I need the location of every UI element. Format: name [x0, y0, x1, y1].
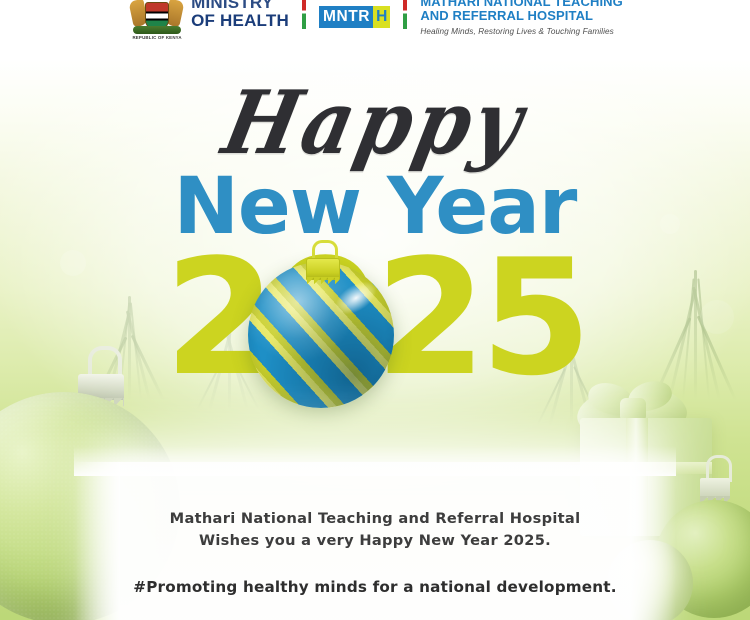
hospital-tagline: Healing Minds, Restoring Lives & Touchin… [420, 27, 623, 36]
kenya-coat-of-arms-icon: REPUBLIC OF KENYA [127, 0, 187, 42]
greeting-message-line-2: Wishes you a very Happy New Year 2025. [0, 530, 750, 552]
header-logo-bar: REPUBLIC OF KENYA MINISTRY OF HEALTH MNT… [0, 0, 750, 42]
kenya-flag-divider [403, 0, 407, 29]
mntrh-logo: MNTRH [319, 6, 390, 28]
ministry-line-1: MINISTRY [191, 0, 289, 12]
hospital-line-2: AND REFERRAL HOSPITAL [420, 9, 623, 24]
greeting-message: Mathari National Teaching and Referral H… [0, 508, 750, 552]
bauble-cap [306, 258, 340, 280]
coat-of-arms-caption: REPUBLIC OF KENYA [127, 35, 187, 40]
kenya-flag-divider [302, 0, 306, 29]
hospital-name-block: MATHARI NATIONAL TEACHING AND REFERRAL H… [420, 0, 623, 42]
mntrh-logo-blue-text: MNTR [319, 6, 373, 28]
striped-bauble-ornament [248, 248, 396, 408]
hashtag-slogan: #Promoting healthy minds for a national … [0, 578, 750, 596]
new-year-greeting-poster: REPUBLIC OF KENYA MINISTRY OF HEALTH MNT… [0, 0, 750, 620]
headline-script-happy: Happy [0, 73, 750, 175]
greeting-message-line-1: Mathari National Teaching and Referral H… [0, 508, 750, 530]
ministry-line-2: OF HEALTH [191, 12, 289, 30]
mntrh-logo-yellow-text: H [373, 6, 390, 28]
ministry-name: MINISTRY OF HEALTH [191, 0, 289, 42]
ministry-of-health-lockup: REPUBLIC OF KENYA MINISTRY OF HEALTH [127, 0, 289, 42]
